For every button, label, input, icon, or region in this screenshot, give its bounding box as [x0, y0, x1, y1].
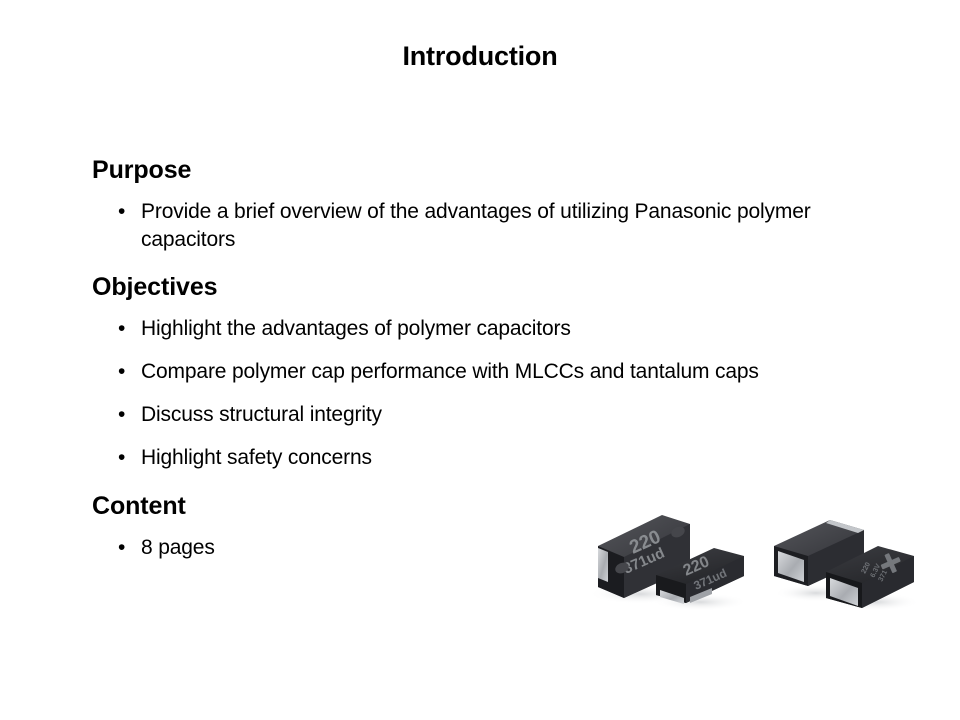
list-item-label: 8 pages	[141, 536, 215, 559]
polymer-capacitor-photo: 220 371ud 220 371ud	[578, 498, 918, 616]
list-item: • Discuss structural integrity	[92, 401, 882, 429]
list-item: • Highlight the advantages of polymer ca…	[92, 315, 882, 343]
list-item: • Compare polymer cap performance with M…	[92, 358, 882, 386]
list-item-label: Compare polymer cap performance with MLC…	[141, 360, 759, 383]
list-item: • Provide a brief overview of the advant…	[92, 198, 882, 254]
bullet-icon: •	[118, 358, 125, 386]
bullet-icon: •	[118, 315, 125, 343]
bullet-icon: •	[118, 534, 125, 562]
slide: Introduction Purpose • Provide a brief o…	[0, 0, 960, 720]
list-item-label: Provide a brief overview of the advantag…	[141, 200, 811, 251]
bullet-icon: •	[118, 444, 125, 472]
list-item-label: Discuss structural integrity	[141, 403, 382, 426]
bullet-list-purpose: • Provide a brief overview of the advant…	[92, 198, 882, 254]
list-item-label: Highlight safety concerns	[141, 446, 372, 469]
list-item-label: Highlight the advantages of polymer capa…	[141, 317, 571, 340]
list-item: • Highlight safety concerns	[92, 444, 882, 472]
page-title: Introduction	[0, 41, 960, 72]
bullet-list-objectives: • Highlight the advantages of polymer ca…	[92, 315, 882, 472]
section-heading-objectives: Objectives	[92, 272, 882, 302]
bullet-icon: •	[118, 198, 125, 226]
bullet-icon: •	[118, 401, 125, 429]
section-heading-purpose: Purpose	[92, 155, 882, 185]
